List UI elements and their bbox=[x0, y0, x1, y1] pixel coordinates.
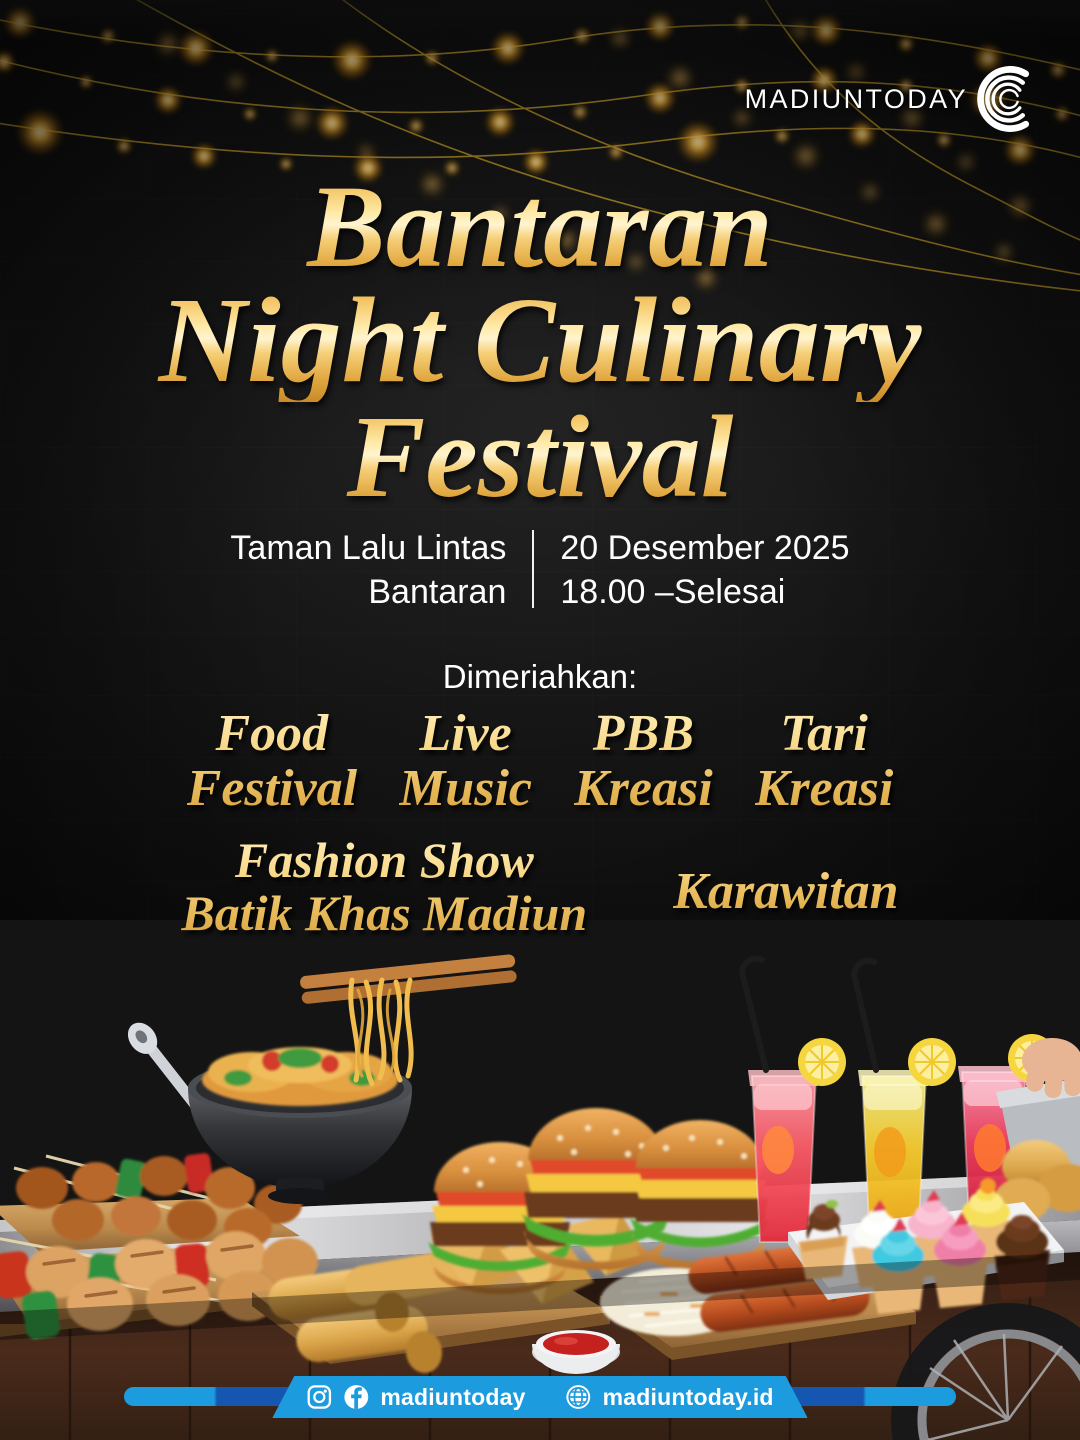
lineup-item-pbb-kreasi: PBB Kreasi bbox=[574, 706, 713, 816]
title-line-3: Festival bbox=[0, 398, 1080, 516]
event-info-strip: Taman Lalu Lintas Bantaran 20 Desember 2… bbox=[0, 526, 1080, 614]
lineup-item-fashion-show: Fashion Show Batik Khas Madiun bbox=[181, 834, 587, 940]
venue-line-1: Taman Lalu Lintas bbox=[230, 526, 506, 570]
title-line-2: Night Culinary bbox=[0, 280, 1080, 402]
brand-logo-wordmark: MADIUNTODAY bbox=[745, 84, 968, 115]
footer-handles-panel: madiuntoday madiuntoday.id bbox=[272, 1376, 807, 1418]
poster-canvas: MADIUNTODAY Bantaran Night Culinary Fest… bbox=[0, 0, 1080, 1440]
food-spread-photo bbox=[0, 920, 1080, 1440]
lineup-row-2: Fashion Show Batik Khas Madiun Karawitan bbox=[0, 834, 1080, 940]
facebook-icon[interactable] bbox=[343, 1384, 369, 1410]
footer-website[interactable]: madiuntoday.id bbox=[603, 1384, 774, 1411]
footer-social-handle[interactable]: madiuntoday bbox=[380, 1384, 525, 1411]
lineup-item-live-music: Live Music bbox=[399, 706, 532, 816]
venue-block: Taman Lalu Lintas Bantaran bbox=[230, 526, 532, 614]
lineup-item-karawitan: Karawitan bbox=[673, 834, 898, 919]
datetime-block: 20 Desember 2025 18.00 –Selesai bbox=[534, 526, 849, 614]
brand-logo: MADIUNTODAY bbox=[745, 62, 1042, 136]
lineup-heading: Dimeriahkan: bbox=[0, 658, 1080, 696]
lineup-item-food-festival: Food Festival bbox=[187, 706, 357, 816]
poster-title: Bantaran Night Culinary Festival bbox=[0, 168, 1080, 516]
social-footer-bar: madiuntoday madiuntoday.id bbox=[0, 1376, 1080, 1418]
title-line-1: Bantaran bbox=[0, 168, 1080, 286]
event-date: 20 Desember 2025 bbox=[560, 526, 849, 570]
instagram-icon[interactable] bbox=[306, 1384, 332, 1410]
globe-icon[interactable] bbox=[566, 1384, 592, 1410]
venue-line-2: Bantaran bbox=[230, 570, 506, 614]
lineup-row-1: Food Festival Live Music PBB Kreasi Tari… bbox=[0, 706, 1080, 816]
swirl-crescent-icon bbox=[968, 62, 1042, 136]
event-time: 18.00 –Selesai bbox=[560, 570, 849, 614]
lineup-item-tari-kreasi: Tari Kreasi bbox=[755, 706, 894, 816]
